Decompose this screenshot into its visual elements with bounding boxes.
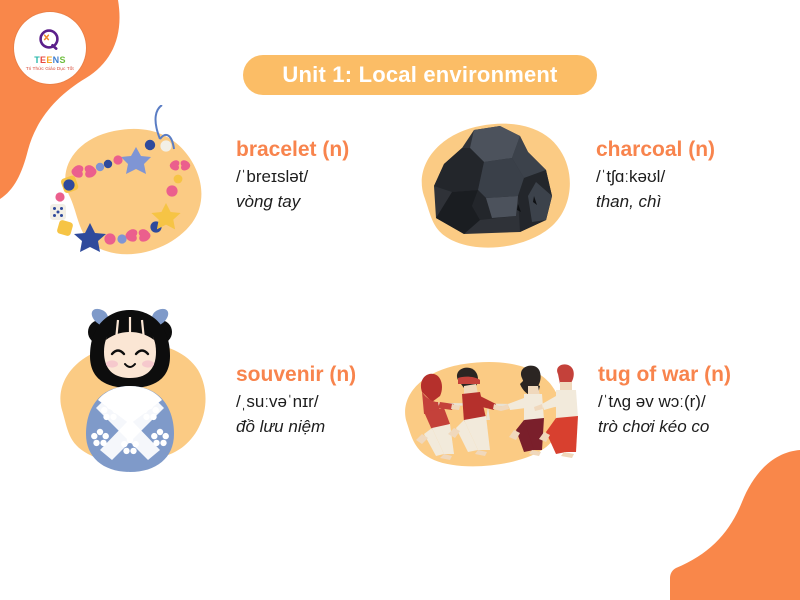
vocab-text-tug-of-war: tug of war (n) /ˈtʌg əv wɔː(r)/ trò chơi… (598, 362, 731, 439)
vocab-text-charcoal: charcoal (n) /ˈtʃɑːkəʊl/ than, chì (596, 137, 715, 214)
headword: bracelet (n) (236, 137, 349, 163)
ipa-transcription: /ˈtʃɑːkəʊl/ (596, 165, 715, 189)
vocab-text-bracelet: bracelet (n) /ˈbreɪslət/ vòng tay (236, 137, 349, 214)
vocab-card-charcoal: charcoal (n) /ˈtʃɑːkəʊl/ than, chì (400, 100, 800, 285)
tug-of-war-people-illustration (392, 350, 592, 480)
translation: than, chì (596, 189, 715, 214)
translation: vòng tay (236, 189, 349, 214)
flashcard-page: TEENS Tri Thức Giáo Dục Tốt Unit 1: Loca… (0, 0, 800, 600)
headword: tug of war (n) (598, 362, 731, 388)
logo-tagline: Tri Thức Giáo Dục Tốt (26, 66, 74, 73)
vocab-card-tug-of-war: tug of war (n) /ˈtʌg əv wɔː(r)/ trò chơi… (392, 350, 800, 490)
ipa-transcription: /ˌsuːvəˈnɪr/ (236, 390, 356, 414)
beaded-bracelet-illustration (40, 105, 230, 280)
headword: souvenir (n) (236, 362, 356, 388)
kokeshi-doll-illustration (48, 300, 233, 485)
page-title: Unit 1: Local environment (282, 62, 557, 88)
headword: charcoal (n) (596, 137, 715, 163)
teens-logo: TEENS Tri Thức Giáo Dục Tốt (14, 12, 86, 84)
unit-title-banner: Unit 1: Local environment (243, 55, 597, 95)
ipa-transcription: /ˈbreɪslət/ (236, 165, 349, 189)
logo-brand-text: TEENS (34, 55, 66, 65)
charcoal-rock-illustration (400, 100, 590, 280)
translation: đồ lưu niệm (236, 414, 356, 439)
magnifier-q-icon (37, 28, 63, 54)
vocab-card-souvenir: souvenir (n) /ˌsuːvəˈnɪr/ đồ lưu niệm (48, 300, 448, 485)
vocab-card-bracelet: bracelet (n) /ˈbreɪslət/ vòng tay (40, 105, 440, 285)
translation: trò chơi kéo co (598, 414, 731, 439)
ipa-transcription: /ˈtʌg əv wɔː(r)/ (598, 390, 731, 414)
vocab-text-souvenir: souvenir (n) /ˌsuːvəˈnɪr/ đồ lưu niệm (236, 362, 356, 439)
